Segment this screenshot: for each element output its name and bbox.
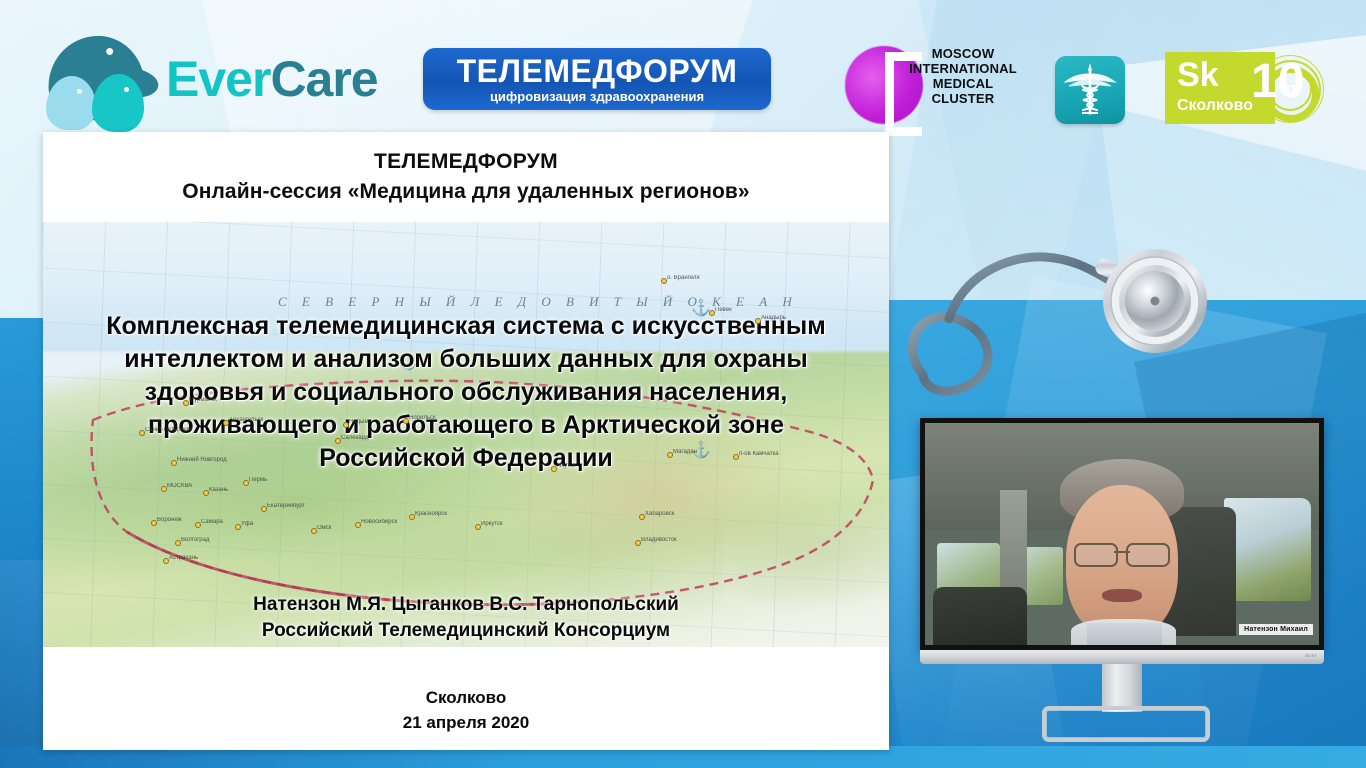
glasses-bridge (1114, 551, 1130, 553)
skolkovo-name-text: Сколково (1177, 98, 1253, 114)
video-person-mouth (1102, 589, 1143, 603)
slide-header-line-2: Онлайн-сессия «Медицина для удаленных ре… (182, 180, 749, 204)
monitor-stand-neck (1102, 664, 1142, 712)
map-city-label: Магадан (673, 449, 697, 455)
video-car-window-right (1224, 498, 1311, 600)
map-city-label: Самара (201, 519, 223, 525)
participant-name-label: Натензон Михаил (1239, 624, 1313, 635)
slide-header-line-1: ТЕЛЕМЕДФОРУМ (374, 150, 558, 174)
slide-authors-line-1: Натензон М.Я. Цыганков В.С. Тарнопольски… (43, 592, 889, 618)
map-city-label: Волгоград (181, 537, 209, 543)
evercare-logo: EverCare (30, 36, 378, 122)
map-city-label: Новосибирск (361, 519, 397, 525)
caduceus-badge (1055, 56, 1125, 124)
monitor-bezel-bottom: acer (920, 650, 1324, 664)
map-city-label: Норильск (409, 415, 436, 421)
map-city-label: Певек (715, 307, 732, 313)
skolkovo-logo: Sk Сколково 10 лет (1165, 52, 1310, 124)
video-person (1055, 459, 1189, 645)
slide-authors-line-2: Российский Телемедицинский Консорциум (43, 618, 889, 644)
evercare-care-text: Care (270, 51, 377, 107)
monitor-stand-base (1042, 706, 1210, 742)
map-city-label: Якутск (557, 463, 575, 469)
monitor-brand-label: acer (1305, 653, 1317, 659)
skolkovo-sk-text: Sk (1177, 58, 1219, 92)
video-monitor[interactable]: Натензон Михаил acer (920, 418, 1324, 668)
slide-header: ТЕЛЕМЕДФОРУМ Онлайн-сессия «Медицина для… (43, 132, 889, 222)
telemedforum-subtitle: цифровизация здравоохранения (490, 90, 704, 103)
video-person-glasses (1072, 543, 1171, 563)
moscow-medical-cluster-logo: MOSCOW INTERNATIONAL MEDICAL CLUSTER (845, 44, 1030, 124)
map-city-label: Омск (317, 525, 331, 531)
penguin-small-light-icon (46, 76, 96, 130)
penguin-small-cyan-icon (92, 74, 144, 132)
telemedforum-title: ТЕЛЕМЕДФОРУМ (457, 55, 738, 87)
stethoscope-decoration (905, 215, 1235, 430)
monitor-screen[interactable]: Натензон Михаил (920, 418, 1324, 650)
slide-footer-place: Сколково (43, 685, 889, 710)
mimc-line-2: INTERNATIONAL (893, 61, 1033, 76)
skolkovo-anniversary-word: лет (1275, 80, 1297, 95)
map-city-label: Надым (349, 419, 369, 425)
map-city-label: п-ов Камчатка (739, 451, 779, 457)
evercare-ever-text: Ever (166, 51, 270, 107)
map-city-label: Владивосток (641, 537, 677, 543)
evercare-wordmark: EverCare (166, 50, 378, 108)
map-city-label: Астрахань (169, 555, 198, 561)
telemedforum-banner: ТЕЛЕМЕДФОРУМ цифровизация здравоохранени… (423, 48, 771, 110)
map-city-label: Красноярск (415, 511, 447, 517)
mimc-line-1: MOSCOW (893, 46, 1033, 61)
video-person-shirt (1087, 623, 1162, 645)
map-city-label: Архангельск (229, 417, 263, 423)
map-city-label: Пермь (249, 477, 267, 483)
map-city-label: Екатеринбург (267, 503, 305, 509)
presentation-slide[interactable]: ТЕЛЕМЕДФОРУМ Онлайн-сессия «Медицина для… (43, 132, 889, 750)
mimc-line-4: CLUSTER (893, 91, 1033, 106)
stethoscope-icon (905, 215, 1235, 430)
map-city-label: Воронеж (157, 517, 182, 523)
glasses-lens-right (1126, 543, 1170, 567)
caduceus-icon (1063, 62, 1117, 118)
map-city-label: Казань (209, 487, 228, 493)
map-city-label: Мурманск (189, 397, 217, 403)
map-city-label: МОСКВА (167, 483, 192, 489)
map-city-label: Салехард (341, 435, 368, 441)
video-person-face (1066, 485, 1179, 638)
slide-footer: Сколково 21 апреля 2020 (43, 685, 889, 735)
map-city-label: Нижний Новгород (177, 457, 227, 463)
slide-authors: Натензон М.Я. Цыганков В.С. Тарнопольски… (43, 592, 889, 644)
mimc-text: MOSCOW INTERNATIONAL MEDICAL CLUSTER (893, 46, 1033, 106)
glasses-lens-left (1074, 543, 1118, 567)
participant-video-feed[interactable]: Натензон Михаил (925, 423, 1319, 645)
map-city-label: Анадырь (761, 315, 786, 321)
map-city-label: о. Врангеля (667, 275, 700, 281)
slide-footer-date: 21 апреля 2020 (43, 710, 889, 735)
map-city-label: Уфа (241, 521, 253, 527)
map-city-label: Иркутск (481, 521, 503, 527)
video-car-seat-2 (933, 587, 1028, 645)
slide-map-background: С Е В Е Р Н Ы Й Л Е Д О В И Т Ы Й О К Е … (43, 222, 889, 647)
penguin-family-icon (30, 36, 162, 122)
mimc-line-3: MEDICAL (893, 76, 1033, 91)
header-logo-bar: EverCare ТЕЛЕМЕДФОРУМ цифровизация здрав… (0, 0, 1366, 132)
webinar-stage: EverCare ТЕЛЕМЕДФОРУМ цифровизация здрав… (0, 0, 1366, 768)
map-city-label: Санкт-Петербург (145, 427, 192, 433)
map-city-label: Хабаровск (645, 511, 674, 517)
